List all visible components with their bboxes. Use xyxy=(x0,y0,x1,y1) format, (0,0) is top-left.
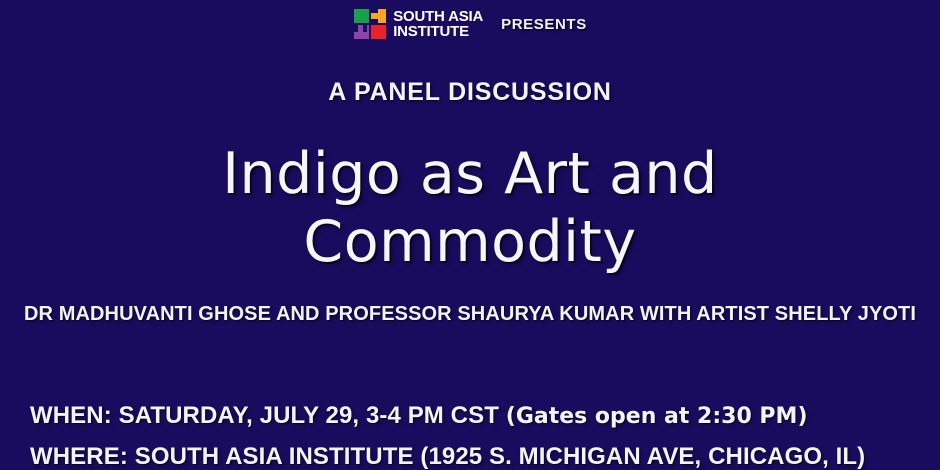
when-note: (Gates open at 2:30 PM) xyxy=(506,404,808,429)
presents-label: PRESENTS xyxy=(501,16,587,33)
event-title: Indigo as Art and Commodity xyxy=(0,140,940,276)
when-value: SATURDAY, JULY 29, 3-4 PM CST xyxy=(119,402,499,429)
event-poster: SOUTH ASIA INSTITUTE PRESENTS A PANEL DI… xyxy=(0,0,940,470)
detail-where: WHERE: SOUTH ASIA INSTITUTE (1925 S. MIC… xyxy=(30,437,920,470)
logo-wordmark: SOUTH ASIA INSTITUTE xyxy=(393,9,483,40)
where-label: WHERE: xyxy=(30,443,128,470)
logo-notch xyxy=(363,25,367,32)
organization-logo-lockup: SOUTH ASIA INSTITUTE xyxy=(353,8,483,41)
when-label: WHEN: xyxy=(30,402,112,429)
south-asia-institute-logo-icon xyxy=(353,8,387,41)
logo-notch xyxy=(371,9,378,13)
event-title-line-2: Commodity xyxy=(0,208,940,276)
detail-when: WHEN: SATURDAY, JULY 29, 3-4 PM CST (Gat… xyxy=(30,396,920,437)
speakers-line: DR MADHUVANTI GHOSE AND PROFESSOR SHAURY… xyxy=(0,303,940,326)
logo-wordmark-line-2: INSTITUTE xyxy=(393,24,483,39)
event-kicker: A PANEL DISCUSSION xyxy=(0,78,940,107)
logo-square-top-left xyxy=(354,9,369,23)
logo-notch xyxy=(371,19,378,23)
logo-wordmark-line-1: SOUTH ASIA xyxy=(393,9,483,24)
where-value: SOUTH ASIA INSTITUTE (1925 S. MICHIGAN A… xyxy=(135,443,866,470)
event-title-line-1: Indigo as Art and xyxy=(0,140,940,208)
event-details: WHEN: SATURDAY, JULY 29, 3-4 PM CST (Gat… xyxy=(30,396,920,470)
logo-notch xyxy=(354,25,358,32)
presenter-bar: SOUTH ASIA INSTITUTE PRESENTS xyxy=(0,4,940,44)
logo-square-bottom-right xyxy=(371,25,386,39)
